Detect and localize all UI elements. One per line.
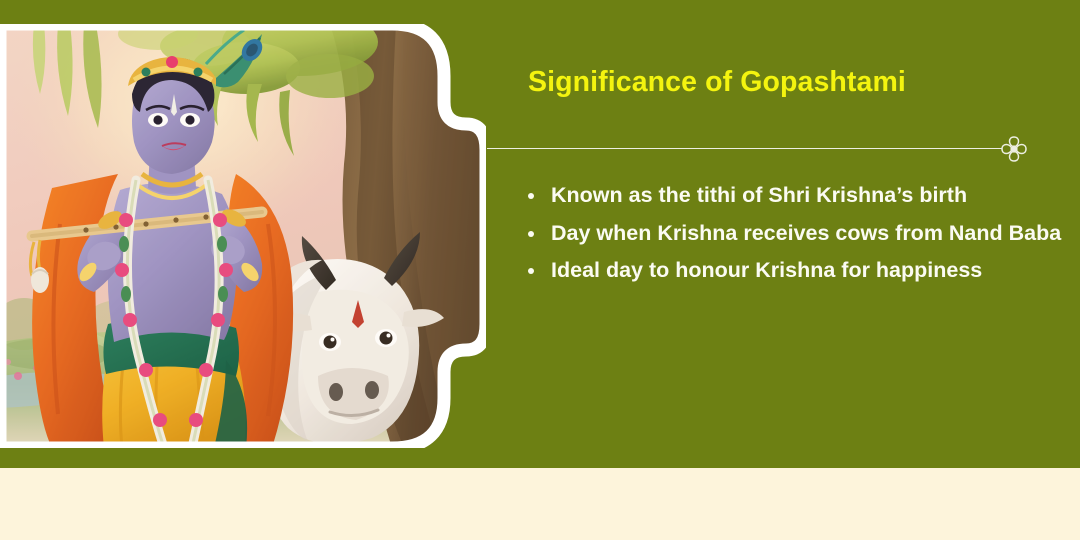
page-title: Significance of Gopashtami — [528, 65, 1048, 99]
content-column: Significance of Gopashtami Known as the … — [487, 0, 1080, 468]
bullet-list: Known as the tithi of Shri Krishna’s bir… — [515, 180, 1067, 293]
list-item: Day when Krishna receives cows from Nand… — [515, 218, 1067, 249]
title-divider — [487, 141, 1047, 157]
krishna-illustration — [0, 24, 486, 448]
illustration-panel — [0, 24, 486, 448]
footer-band — [0, 468, 1080, 540]
four-lobed-knot-ornament — [995, 133, 1033, 165]
divider-line — [487, 148, 1002, 149]
list-item: Ideal day to honour Krishna for happines… — [515, 255, 1067, 286]
slide-root: Significance of Gopashtami Known as the … — [0, 0, 1080, 540]
list-item: Known as the tithi of Shri Krishna’s bir… — [515, 180, 1067, 211]
